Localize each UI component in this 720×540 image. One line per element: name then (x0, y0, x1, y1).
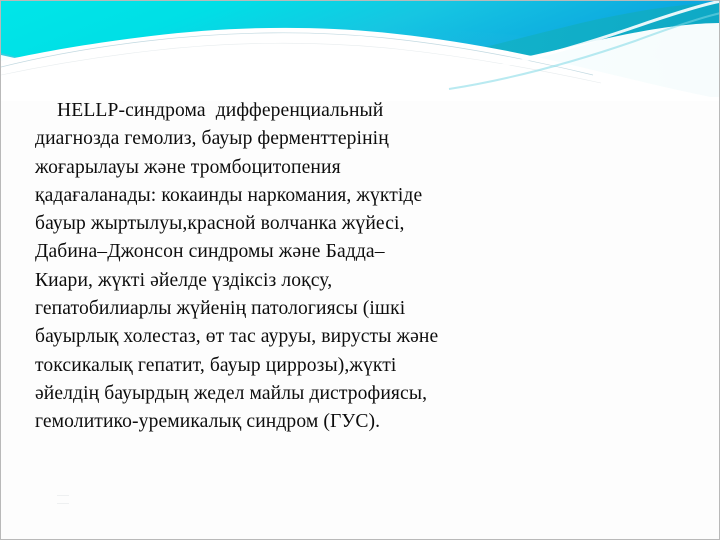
body-line: Дабина–Джонсон синдромы және Бадда– (35, 238, 695, 266)
body-line: токсикалық гепатит, бауыр циррозы),жүкті (35, 352, 695, 380)
body-line: HELLP-синдрома дифференциальный (35, 97, 695, 125)
body-line: әйелдің бауырдың жедел майлы дистрофиясы… (35, 380, 695, 408)
footer-artifact (57, 495, 69, 504)
slide-canvas: HELLP-синдрома дифференциальный диагнозд… (0, 0, 720, 540)
body-line: жоғарылауы және тромбоцитопения (35, 154, 695, 182)
body-line: бауыр жыртылуы,красной волчанка жүйесі, (35, 210, 695, 238)
wave-banner-header (1, 1, 720, 101)
body-line: қадағаланады: кокаинды наркомания, жүкті… (35, 182, 695, 210)
body-line: Киари, жүкті әйелде үздіксіз лоқсу, (35, 267, 695, 295)
body-line: бауырлық холестаз, өт тас ауруы, вирусты… (35, 323, 695, 351)
body-line: гемолитико-уремикалық синдром (ГУС). (35, 408, 695, 436)
slide-body-text: HELLP-синдрома дифференциальный диагнозд… (35, 97, 695, 437)
body-line: гепатобилиарлы жүйенің патологиясы (ішкі (35, 295, 695, 323)
body-line: диагнозда гемолиз, бауыр ферменттерінің (35, 125, 695, 153)
